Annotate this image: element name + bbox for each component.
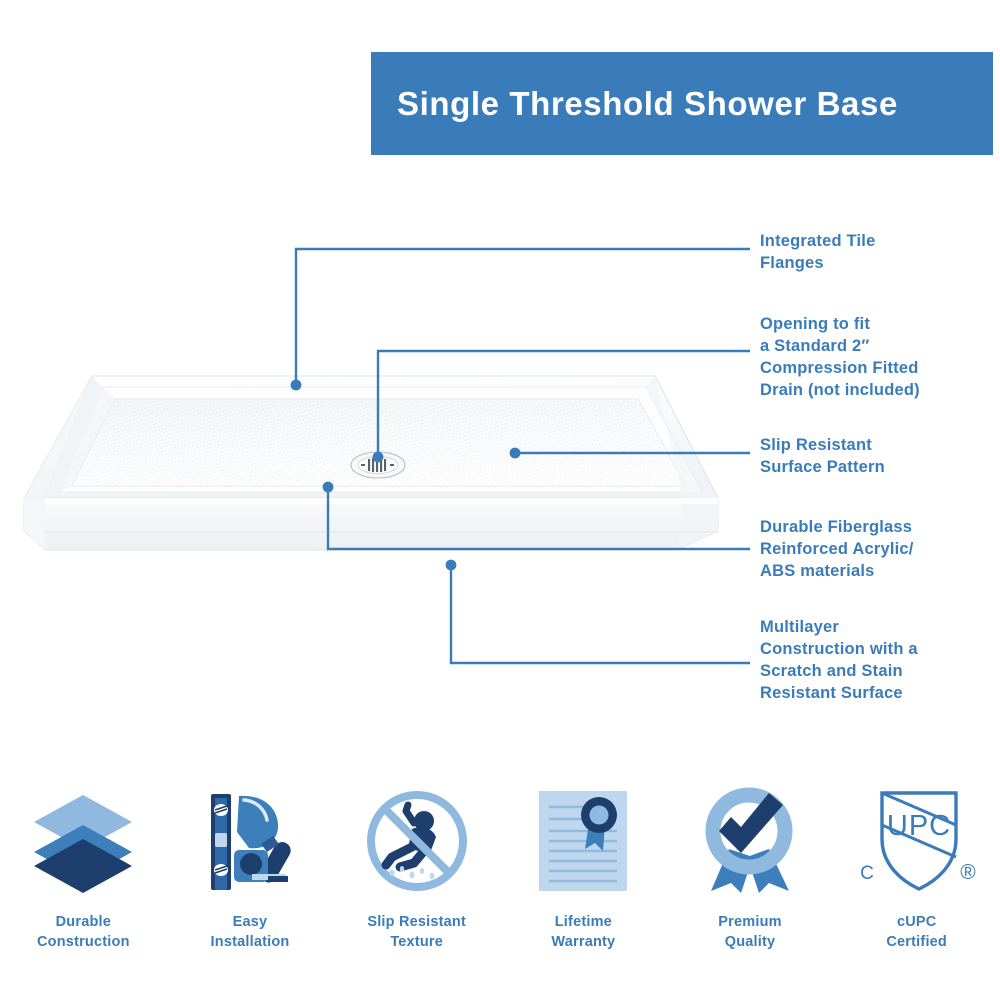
feature-label: Lifetime Warranty	[551, 912, 615, 953]
upc-shield-registered-mark: ®	[960, 861, 976, 884]
feature-slip-resistant-texture: Slip Resistant Texture	[333, 782, 500, 982]
feature-badges-row: Durable Construction	[0, 782, 1000, 982]
feature-cupc-certified: UPC C ® cUPC Certified	[833, 782, 1000, 982]
callout-slip-resistant-surface-pattern: Slip Resistant Surface Pattern	[760, 435, 885, 479]
feature-icon-wrap	[195, 782, 305, 900]
feature-icon-wrap: UPC C ®	[858, 782, 976, 900]
skirt-shadow-line	[45, 531, 718, 533]
callout-drain-opening: Opening to fit a Standard 2″ Compression…	[760, 314, 920, 402]
no-slip-warning-icon	[362, 787, 472, 895]
upc-shield-icon: UPC C ®	[858, 787, 976, 895]
feature-icon-wrap	[697, 782, 803, 900]
feature-lifetime-warranty: Lifetime Warranty	[500, 782, 667, 982]
feature-easy-installation: Easy Installation	[167, 782, 334, 982]
feature-icon-wrap	[362, 782, 472, 900]
feature-icon-wrap	[533, 782, 633, 900]
drain-opening-icon	[351, 452, 405, 478]
stacked-layers-icon	[28, 789, 138, 893]
upc-shield-c-mark: C	[860, 863, 874, 884]
feature-label: Slip Resistant Texture	[367, 912, 466, 953]
callout-durable-fiberglass-materials: Durable Fiberglass Reinforced Acrylic/ A…	[760, 517, 914, 583]
product-illustration	[18, 368, 732, 600]
feature-premium-quality: Premium Quality	[667, 782, 834, 982]
callout-multilayer-construction: Multilayer Construction with a Scratch a…	[760, 617, 918, 705]
callout-integrated-tile-flanges: Integrated Tile Flanges	[760, 231, 875, 275]
feature-durable-construction: Durable Construction	[0, 782, 167, 982]
trowel-level-tools-icon	[195, 788, 305, 894]
feature-label: Durable Construction	[37, 912, 130, 953]
award-checkmark-icon	[697, 787, 803, 895]
certificate-ribbon-icon	[533, 787, 633, 895]
feature-icon-wrap	[28, 782, 138, 900]
leader-line-integrated-tile-flanges	[296, 249, 750, 385]
feature-label: Easy Installation	[211, 912, 290, 953]
threshold-edge	[45, 498, 718, 504]
feature-label: cUPC Certified	[886, 912, 947, 953]
title-banner: Single Threshold Shower Base	[371, 52, 993, 155]
infographic-page: Single Threshold Shower Base	[0, 0, 1000, 1000]
upc-shield-text: UPC	[887, 810, 951, 842]
feature-label: Premium Quality	[718, 912, 781, 953]
page-title: Single Threshold Shower Base	[397, 85, 898, 123]
